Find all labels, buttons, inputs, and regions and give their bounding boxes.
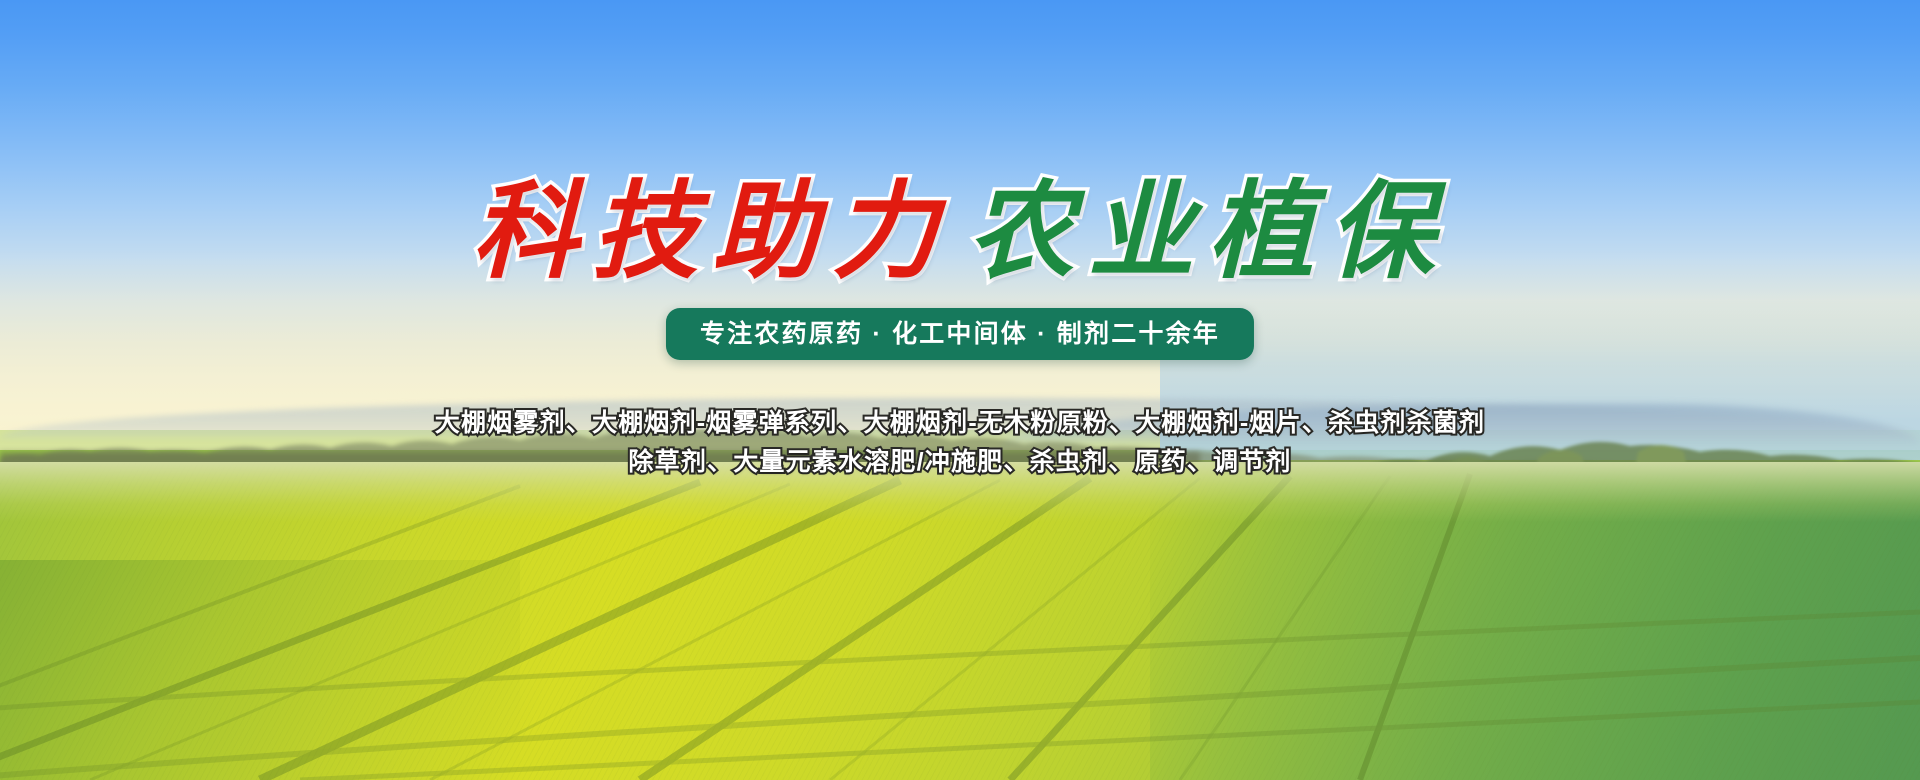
- product-list: 大棚烟雾剂、大棚烟剂-烟雾弹系列、大棚烟剂-无木粉原粉、大棚烟剂-烟片、杀虫剂杀…: [0, 404, 1920, 482]
- tagline-pill: 专注农药原药 · 化工中间体 · 制剂二十余年: [666, 308, 1254, 360]
- headline-red-part: 科技助力: [472, 168, 952, 293]
- product-line-2: 除草剂、大量元素水溶肥/冲施肥、杀虫剂、原药、调节剂: [0, 443, 1920, 482]
- tagline-text: 专注农药原药 · 化工中间体 · 制剂二十余年: [700, 322, 1220, 347]
- hero-banner: 科技助力农业植保 专注农药原药 · 化工中间体 · 制剂二十余年 大棚烟雾剂、大…: [0, 0, 1920, 780]
- headline-green-part: 农业植保: [968, 168, 1448, 293]
- hero-headline: 科技助力农业植保: [0, 168, 1920, 293]
- product-line-1: 大棚烟雾剂、大棚烟剂-烟雾弹系列、大棚烟剂-无木粉原粉、大棚烟剂-烟片、杀虫剂杀…: [0, 404, 1920, 443]
